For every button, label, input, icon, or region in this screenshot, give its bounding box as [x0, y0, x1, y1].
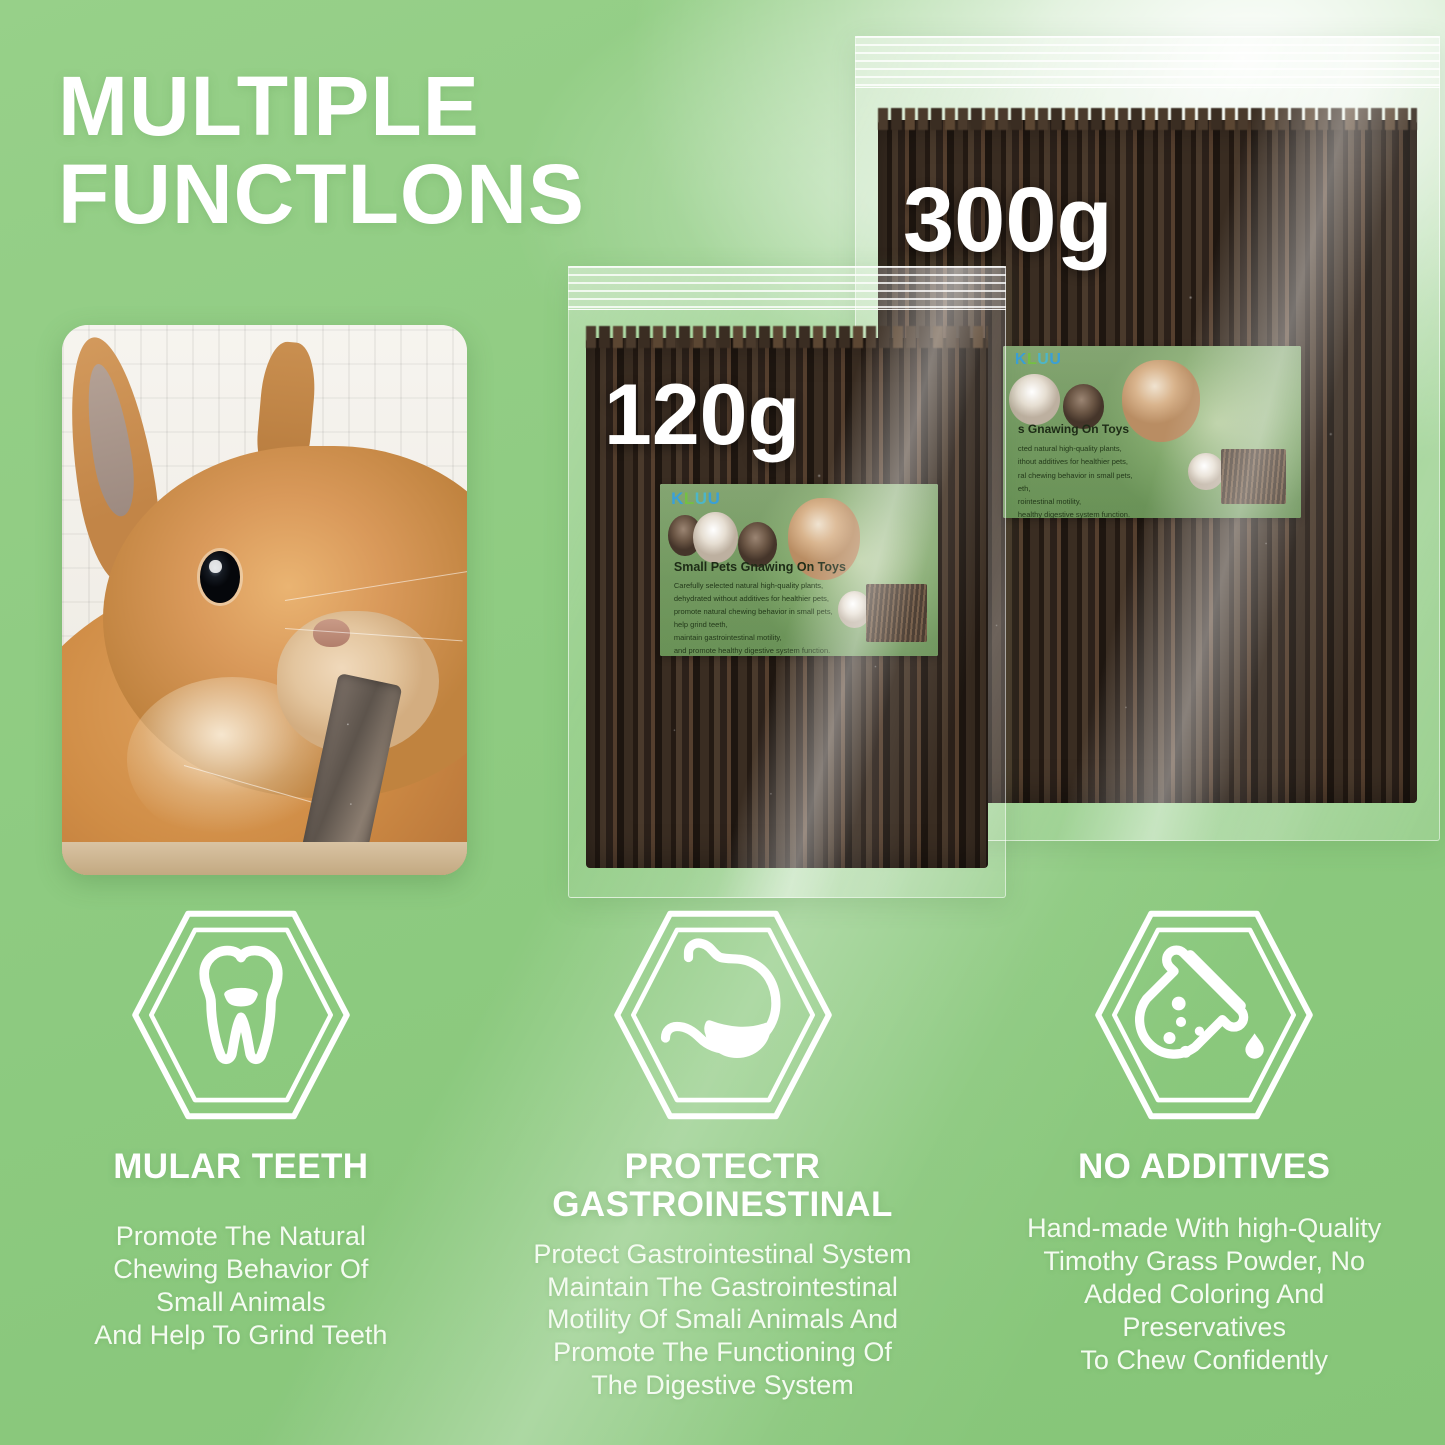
label-line: maintain gastrointestinal motility,: [674, 632, 833, 645]
brand-logo-300g: KLUU: [1015, 351, 1061, 369]
page-title-line-1: MULTIPLE: [58, 59, 480, 153]
test-tube-icon: [1089, 900, 1319, 1130]
photo-ledge: [62, 842, 467, 875]
label-line: cted natural high-quality plants,: [1018, 442, 1133, 455]
bag-ziplock-top: [855, 36, 1440, 88]
bag-ziplock-top: [568, 266, 1006, 310]
label-small-rabbit: [1188, 453, 1224, 491]
feature-title: PROTECTR GASTROINESTINAL: [552, 1148, 892, 1224]
rabbit-eye: [200, 551, 241, 603]
label-rabbit: [693, 512, 737, 564]
rabbit-photo: [62, 325, 467, 875]
label-line: eth,: [1018, 482, 1133, 495]
label-line: and promote healthy digestive system fun…: [674, 645, 833, 656]
feature-protect-gastrointestinal: PROTECTR GASTROINESTINAL Protect Gastroi…: [482, 900, 964, 1445]
page-title-line-2: FUNCTLONS: [58, 150, 818, 238]
label-body-300g: cted natural high-quality plants, ithout…: [1018, 442, 1133, 518]
label-rabbit: [1009, 374, 1060, 426]
label-line: ithout additives for healthier pets,: [1018, 455, 1133, 468]
product-label-120g: KLUU Small Pets Gnawing On Toys Carefull…: [660, 484, 938, 656]
weight-label-300g: 300g: [903, 168, 1113, 273]
label-stick-bundle: [866, 584, 927, 642]
label-stick-bundle: [1221, 449, 1287, 504]
feature-no-additives: NO ADDITIVES Hand-made With high-Quality…: [963, 900, 1445, 1445]
label-title-120g: Small Pets Gnawing On Toys: [674, 560, 846, 574]
feature-body: Hand-made With high-Quality Timothy Gras…: [1027, 1212, 1381, 1377]
label-line: ral chewing behavior in small pets,: [1018, 469, 1133, 482]
feature-mular-teeth: MULAR TEETH Promote The Natural Chewing …: [0, 900, 482, 1445]
feature-body: Promote The Natural Chewing Behavior Of …: [94, 1220, 387, 1352]
stomach-icon: [608, 900, 838, 1130]
product-bag-120g[interactable]: 120g KLUU Small Pets Gnawing On Toys Car…: [568, 266, 1006, 898]
label-body-120g: Carefully selected natural high-quality …: [674, 580, 833, 656]
feature-body: Protect Gastrointestinal System Maintain…: [533, 1238, 911, 1403]
label-line: rointestinal motility,: [1018, 495, 1133, 508]
page-title: MULTIPLE FUNCTLONS: [58, 62, 818, 238]
feature-title: MULAR TEETH: [113, 1148, 368, 1186]
label-hamster: [1122, 360, 1199, 443]
tooth-icon: [126, 900, 356, 1130]
feature-title: NO ADDITIVES: [1078, 1148, 1330, 1186]
label-title-300g: s Gnawing On Toys: [1018, 422, 1129, 436]
feature-row: MULAR TEETH Promote The Natural Chewing …: [0, 900, 1445, 1445]
label-line: promote natural chewing behavior in smal…: [674, 606, 833, 619]
label-line: help grind teeth,: [674, 619, 833, 632]
label-line: healthy digestive system function.: [1018, 508, 1133, 518]
brand-logo-120g: KLUU: [671, 489, 720, 509]
label-line: dehydrated without additives for healthi…: [674, 593, 833, 606]
weight-label-120g: 120g: [604, 366, 800, 465]
product-label-300g: KLUU s Gnawing On Toys cted natural high…: [1003, 346, 1301, 518]
label-line: Carefully selected natural high-quality …: [674, 580, 833, 593]
